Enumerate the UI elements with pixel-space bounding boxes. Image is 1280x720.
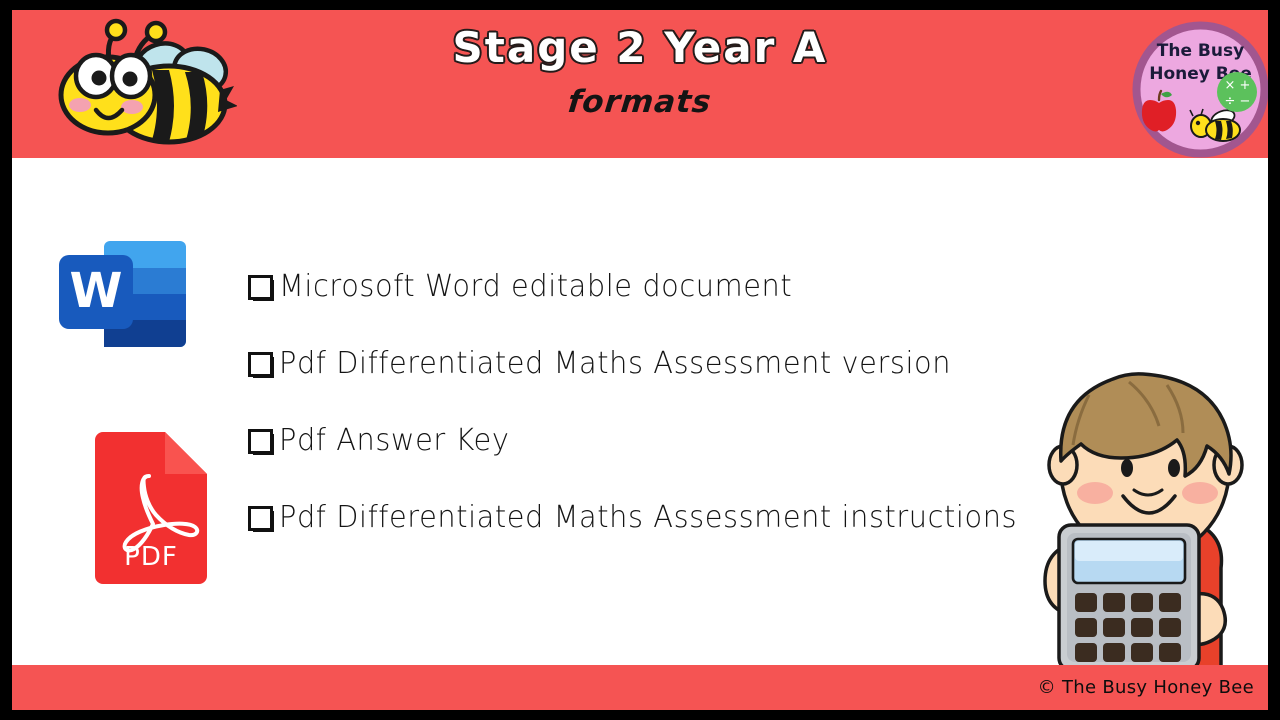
logo-line1: The Busy (1157, 41, 1244, 61)
footer-band: © The Busy Honey Bee (12, 665, 1268, 710)
checkbox-icon[interactable] (248, 275, 273, 300)
checkbox-icon[interactable] (248, 506, 273, 531)
pdf-icon: PDF (89, 432, 214, 584)
checkbox-icon[interactable] (248, 352, 273, 377)
checklist-item-label: Pdf Differentiated Maths Assessment vers… (279, 349, 951, 379)
checklist-item-label: Microsoft Word editable document (279, 272, 792, 302)
checklist-item[interactable]: Pdf Differentiated Maths Assessment inst… (248, 489, 1048, 547)
boy-with-calculator-illustration (1017, 365, 1268, 670)
calculator-prop (1059, 525, 1199, 670)
copyright-credit: © The Busy Honey Bee (1038, 677, 1254, 698)
checklist-item-label: Pdf Differentiated Maths Assessment inst… (279, 503, 1017, 533)
calculator-icon: × + ÷ − (1217, 72, 1257, 112)
checklist-item[interactable]: Pdf Answer Key (248, 412, 1048, 470)
pdf-label: PDF (124, 542, 178, 572)
word-letter: W (70, 263, 123, 319)
slide-content-area: Stage 2 Year A formats The Busy Honey Be… (12, 10, 1268, 710)
svg-text:+: + (1240, 78, 1251, 93)
checklist-item[interactable]: Pdf Differentiated Maths Assessment vers… (248, 335, 1048, 393)
checkbox-icon[interactable] (248, 429, 273, 454)
svg-text:×: × (1225, 78, 1236, 93)
slide-canvas: Stage 2 Year A formats The Busy Honey Be… (0, 0, 1280, 720)
checklist-item[interactable]: Microsoft Word editable document (248, 258, 1048, 316)
bee-mascot-icon (52, 18, 237, 153)
formats-checklist: Microsoft Word editable document Pdf Dif… (248, 258, 1048, 547)
brand-logo-badge[interactable]: The Busy Honey Bee (1131, 20, 1268, 159)
checklist-item-label: Pdf Answer Key (279, 426, 509, 456)
svg-text:−: − (1240, 94, 1251, 109)
microsoft-word-icon: W (56, 235, 189, 353)
svg-text:÷: ÷ (1225, 94, 1236, 109)
